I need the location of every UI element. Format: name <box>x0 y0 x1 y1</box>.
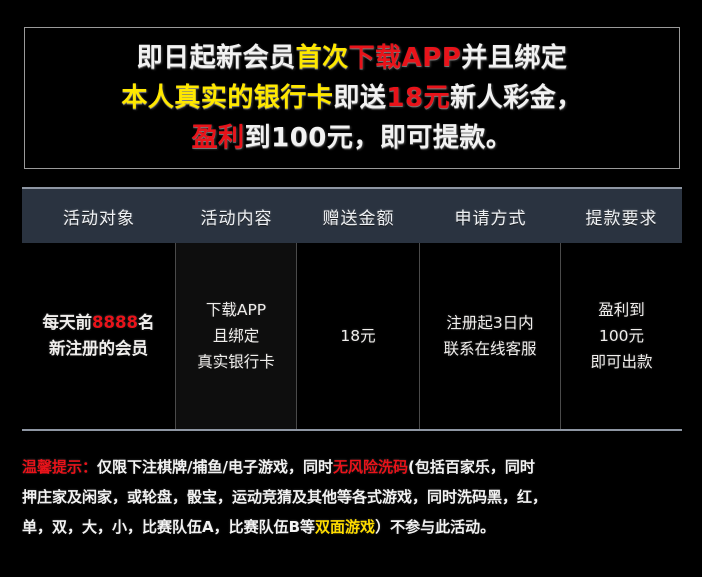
banner-l1-seg-4: 并且绑定 <box>461 43 567 73</box>
cell-withdrawal-line-2: 100元 <box>599 323 644 349</box>
banner-l1-seg-3: 下载APP <box>349 43 462 73</box>
cell-activity-content-line-1: 下载APP <box>206 297 266 323</box>
banner-l2-seg-3: 18元 <box>386 83 450 113</box>
cell-target-count: 8888 <box>92 313 138 332</box>
table-header-activity-target: 活动对象 <box>22 189 176 243</box>
footnote-line-1: 温馨提示：仅限下注棋牌/捕鱼/电子游戏，同时无风险洗码(包括百家乐，同时 <box>22 452 690 482</box>
promo-table: 活动对象 活动内容 赠送金额 申请方式 提款要求 每天前8888名 新注册的会员… <box>22 187 682 431</box>
table-header-withdrawal-requirement: 提款要求 <box>561 189 682 243</box>
footnote-l1-seg-4: (包括百家乐，同时 <box>408 458 535 476</box>
banner-l2-seg-2: 即送 <box>333 83 386 113</box>
footnote-terms: 温馨提示：仅限下注棋牌/捕鱼/电子游戏，同时无风险洗码(包括百家乐，同时 押庄家… <box>22 452 690 542</box>
table-header-activity-content: 活动内容 <box>176 189 297 243</box>
banner-l3-seg-1: 盈利 <box>192 123 245 153</box>
footnote-line-2: 押庄家及闲家，或轮盘，骰宝，运动竞猜及其他等各式游戏，同时洗码黑，红， <box>22 482 690 512</box>
cell-activity-target-line-2: 新注册的会员 <box>49 336 148 362</box>
table-header-row: 活动对象 活动内容 赠送金额 申请方式 提款要求 <box>22 187 682 243</box>
banner-l3-seg-2: 到100元，即可提款。 <box>245 123 513 153</box>
cell-bonus-amount-value: 18元 <box>340 323 375 349</box>
banner-line-1: 即日起新会员首次下载APP并且绑定 <box>137 38 568 78</box>
footnote-l1-seg-3: 无风险洗码 <box>333 458 408 476</box>
banner-l2-seg-4: 新人彩金， <box>450 83 583 113</box>
table-cell-withdrawal-requirement: 盈利到 100元 即可出款 <box>561 243 682 429</box>
cell-application-method-line-2: 联系在线客服 <box>443 336 536 362</box>
footnote-line-3: 单，双，大，小，比赛队伍A，比赛队伍B等双面游戏）不参与此活动。 <box>22 512 690 542</box>
footnote-notice-label: 温馨提示： <box>22 458 97 476</box>
promo-banner: 即日起新会员首次下载APP并且绑定 本人真实的银行卡即送18元新人彩金， 盈利到… <box>24 27 680 169</box>
banner-l1-seg-2: 首次 <box>296 43 349 73</box>
footnote-l3-seg-3: ）不参与此活动。 <box>375 518 495 536</box>
banner-line-2: 本人真实的银行卡即送18元新人彩金， <box>121 78 582 118</box>
table-cell-activity-target: 每天前8888名 新注册的会员 <box>22 243 176 429</box>
banner-line-3: 盈利到100元，即可提款。 <box>192 118 513 158</box>
table-header-application-method: 申请方式 <box>420 189 561 243</box>
cell-application-method-line-1: 注册起3日内 <box>446 310 533 336</box>
cell-target-prefix: 每天前 <box>43 313 93 332</box>
cell-activity-target-line-1: 每天前8888名 <box>43 310 155 336</box>
cell-withdrawal-line-3: 即可出款 <box>590 349 652 375</box>
footnote-l3-highlight: 双面游戏 <box>315 518 375 536</box>
table-header-bonus-amount: 赠送金额 <box>297 189 420 243</box>
cell-withdrawal-line-1: 盈利到 <box>598 297 645 323</box>
table-row: 每天前8888名 新注册的会员 下载APP 且绑定 真实银行卡 18元 注册起3… <box>22 243 682 431</box>
banner-l2-seg-1: 本人真实的银行卡 <box>121 83 333 113</box>
banner-l1-seg-1: 即日起新会员 <box>137 43 296 73</box>
footnote-l3-seg-1: 单，双，大，小，比赛队伍A，比赛队伍B等 <box>22 518 315 536</box>
cell-target-suffix: 名 <box>138 313 155 332</box>
cell-activity-content-line-2: 且绑定 <box>213 323 260 349</box>
footnote-l1-seg-2: 仅限下注棋牌/捕鱼/电子游戏，同时 <box>97 458 333 476</box>
cell-activity-content-line-3: 真实银行卡 <box>197 349 275 375</box>
table-cell-bonus-amount: 18元 <box>297 243 420 429</box>
table-cell-activity-content: 下载APP 且绑定 真实银行卡 <box>176 243 297 429</box>
footnote-l2-seg-1: 押庄家及闲家，或轮盘，骰宝，运动竞猜及其他等各式游戏，同时洗码黑，红， <box>22 488 547 506</box>
table-cell-application-method: 注册起3日内 联系在线客服 <box>420 243 561 429</box>
